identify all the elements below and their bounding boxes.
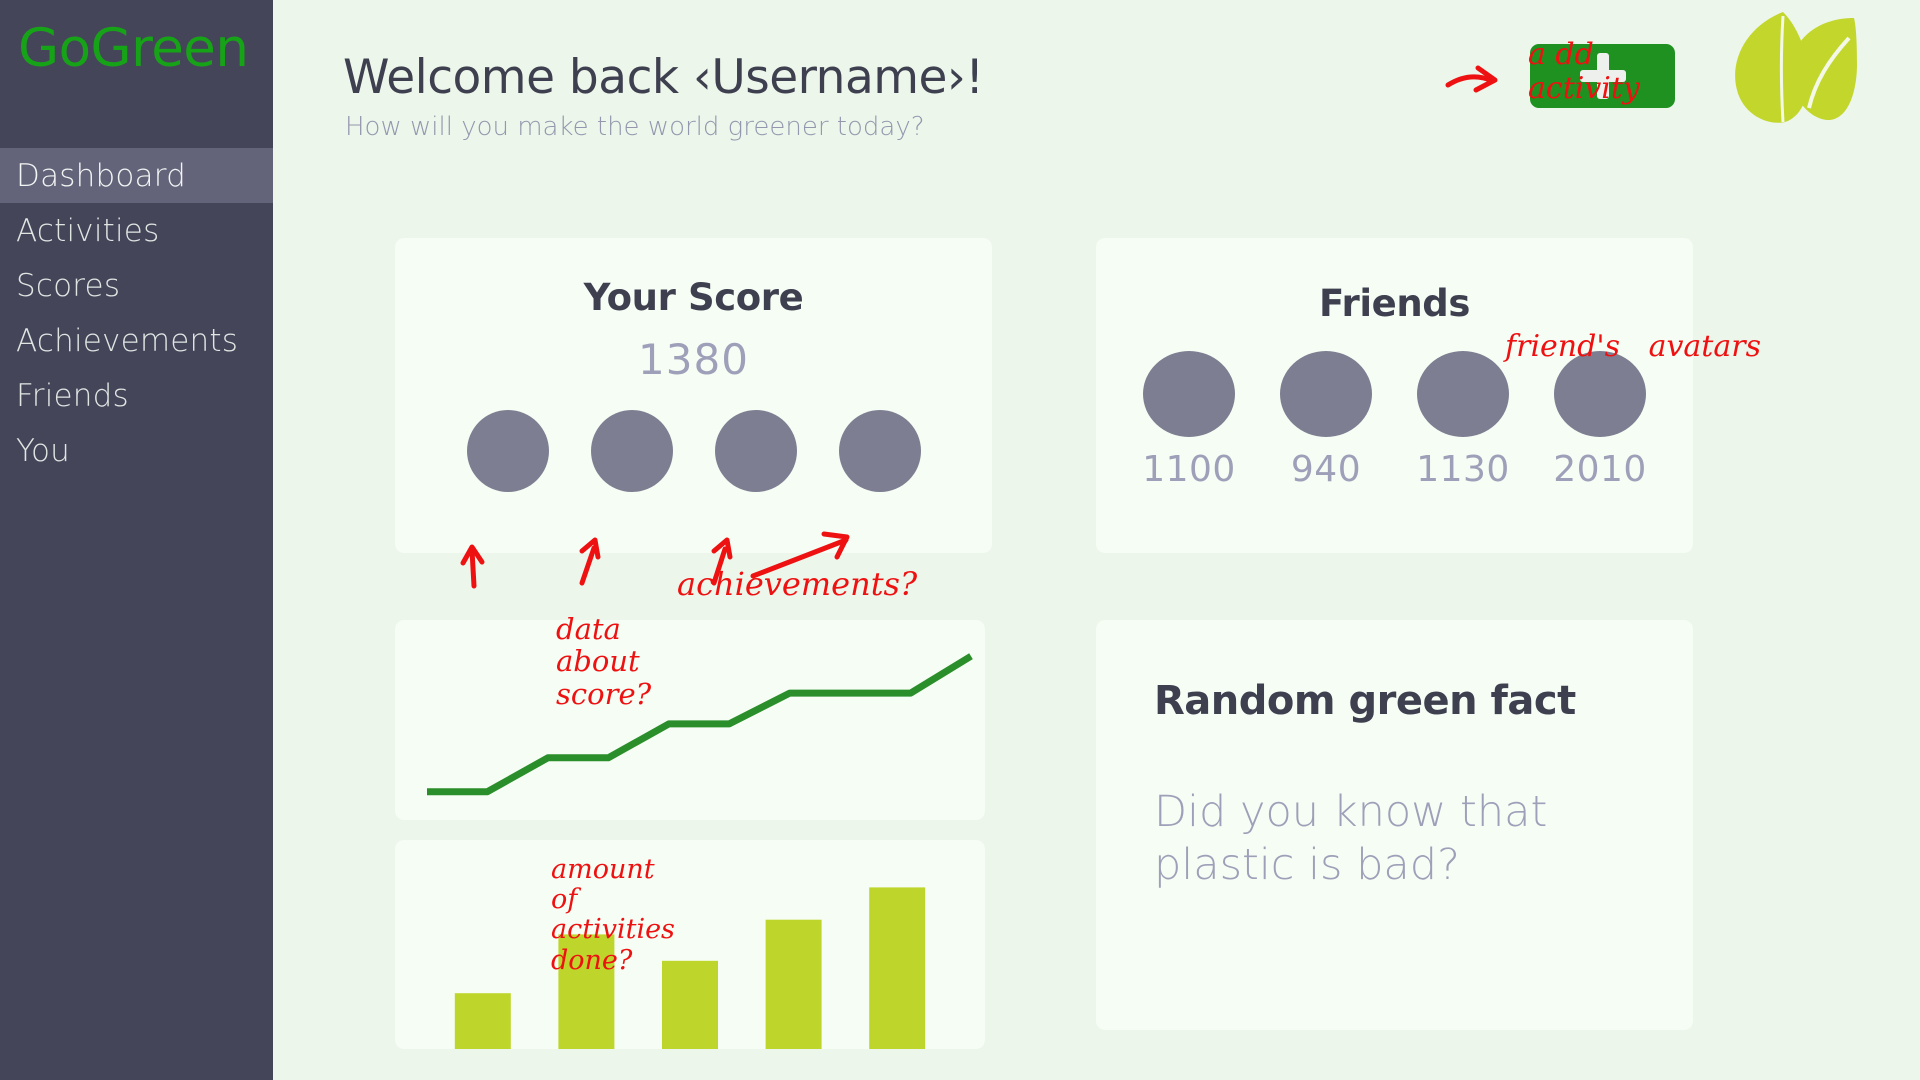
sidebar-item-label: Scores xyxy=(16,268,120,304)
friend-score: 2010 xyxy=(1552,449,1648,490)
sidebar-item-you[interactable]: You xyxy=(0,423,273,478)
score-card-title: Your Score xyxy=(395,276,992,319)
sidebar-item-scores[interactable]: Scores xyxy=(0,258,273,313)
fact-card-title: Random green fact xyxy=(1154,678,1693,724)
achievement-badge[interactable] xyxy=(467,410,549,492)
score-card: Your Score 1380 xyxy=(395,238,992,553)
brand-logo-text[interactable]: GoGreen xyxy=(18,22,249,75)
friend-score: 1130 xyxy=(1415,449,1511,490)
sidebar-nav: Dashboard Activities Scores Achievements… xyxy=(0,148,273,478)
sidebar: GoGreen Dashboard Activities Scores Achi… xyxy=(0,0,273,1080)
page-title: Welcome back ‹Username›! xyxy=(343,50,984,105)
score-line-chart-card[interactable] xyxy=(395,620,985,820)
sidebar-item-activities[interactable]: Activities xyxy=(0,203,273,258)
sidebar-item-label: Dashboard xyxy=(16,158,186,194)
friend-score: 1100 xyxy=(1141,449,1237,490)
friends-list: 1100 940 1130 2010 xyxy=(1096,351,1693,490)
achievement-badge[interactable] xyxy=(715,410,797,492)
friend-score: 940 xyxy=(1278,449,1374,490)
avatar xyxy=(1417,351,1509,437)
main-content: Welcome back ‹Username›! How will you ma… xyxy=(273,0,1920,1080)
sidebar-item-dashboard[interactable]: Dashboard xyxy=(0,148,273,203)
leaf-logo-icon xyxy=(1723,8,1859,128)
app-root: GoGreen Dashboard Activities Scores Achi… xyxy=(0,0,1920,1080)
activities-bar-chart-card[interactable] xyxy=(395,840,985,1049)
annotation-add-activity: a dd activity xyxy=(1528,38,1640,105)
bar xyxy=(766,920,822,1049)
achievement-badge[interactable] xyxy=(591,410,673,492)
annotation-achievements: achievements? xyxy=(677,567,917,603)
avatar xyxy=(1143,351,1235,437)
annotation-friends-avatars: friend's avatars xyxy=(1505,330,1761,364)
friend-item[interactable]: 940 xyxy=(1278,351,1374,490)
line-series xyxy=(427,656,971,792)
avatar xyxy=(1280,351,1372,437)
sidebar-item-label: You xyxy=(16,433,70,469)
friends-card: Friends 1100 940 1130 2010 xyxy=(1096,238,1693,553)
sidebar-item-label: Activities xyxy=(16,213,159,249)
sidebar-item-label: Achievements xyxy=(16,323,238,359)
page-subtitle: How will you make the world greener toda… xyxy=(345,112,925,142)
sidebar-item-friends[interactable]: Friends xyxy=(0,368,273,423)
fact-card-body: Did you know that plastic is bad? xyxy=(1154,786,1624,893)
bar xyxy=(869,887,925,1049)
annotation-activities-amount: amount of activities done? xyxy=(551,855,675,976)
achievement-badge[interactable] xyxy=(839,410,921,492)
sidebar-item-label: Friends xyxy=(16,378,129,414)
achievement-list xyxy=(395,410,992,492)
friend-item[interactable]: 1100 xyxy=(1141,351,1237,490)
bar xyxy=(455,993,511,1049)
friend-item[interactable]: 2010 xyxy=(1552,351,1648,490)
score-line-chart xyxy=(395,620,985,820)
friends-card-title: Friends xyxy=(1096,282,1693,325)
annotation-score-data: data about score? xyxy=(556,613,651,710)
score-value: 1380 xyxy=(395,335,992,384)
green-fact-card: Random green fact Did you know that plas… xyxy=(1096,620,1693,1030)
friend-item[interactable]: 1130 xyxy=(1415,351,1511,490)
sidebar-item-achievements[interactable]: Achievements xyxy=(0,313,273,368)
activities-bar-chart xyxy=(395,840,985,1049)
